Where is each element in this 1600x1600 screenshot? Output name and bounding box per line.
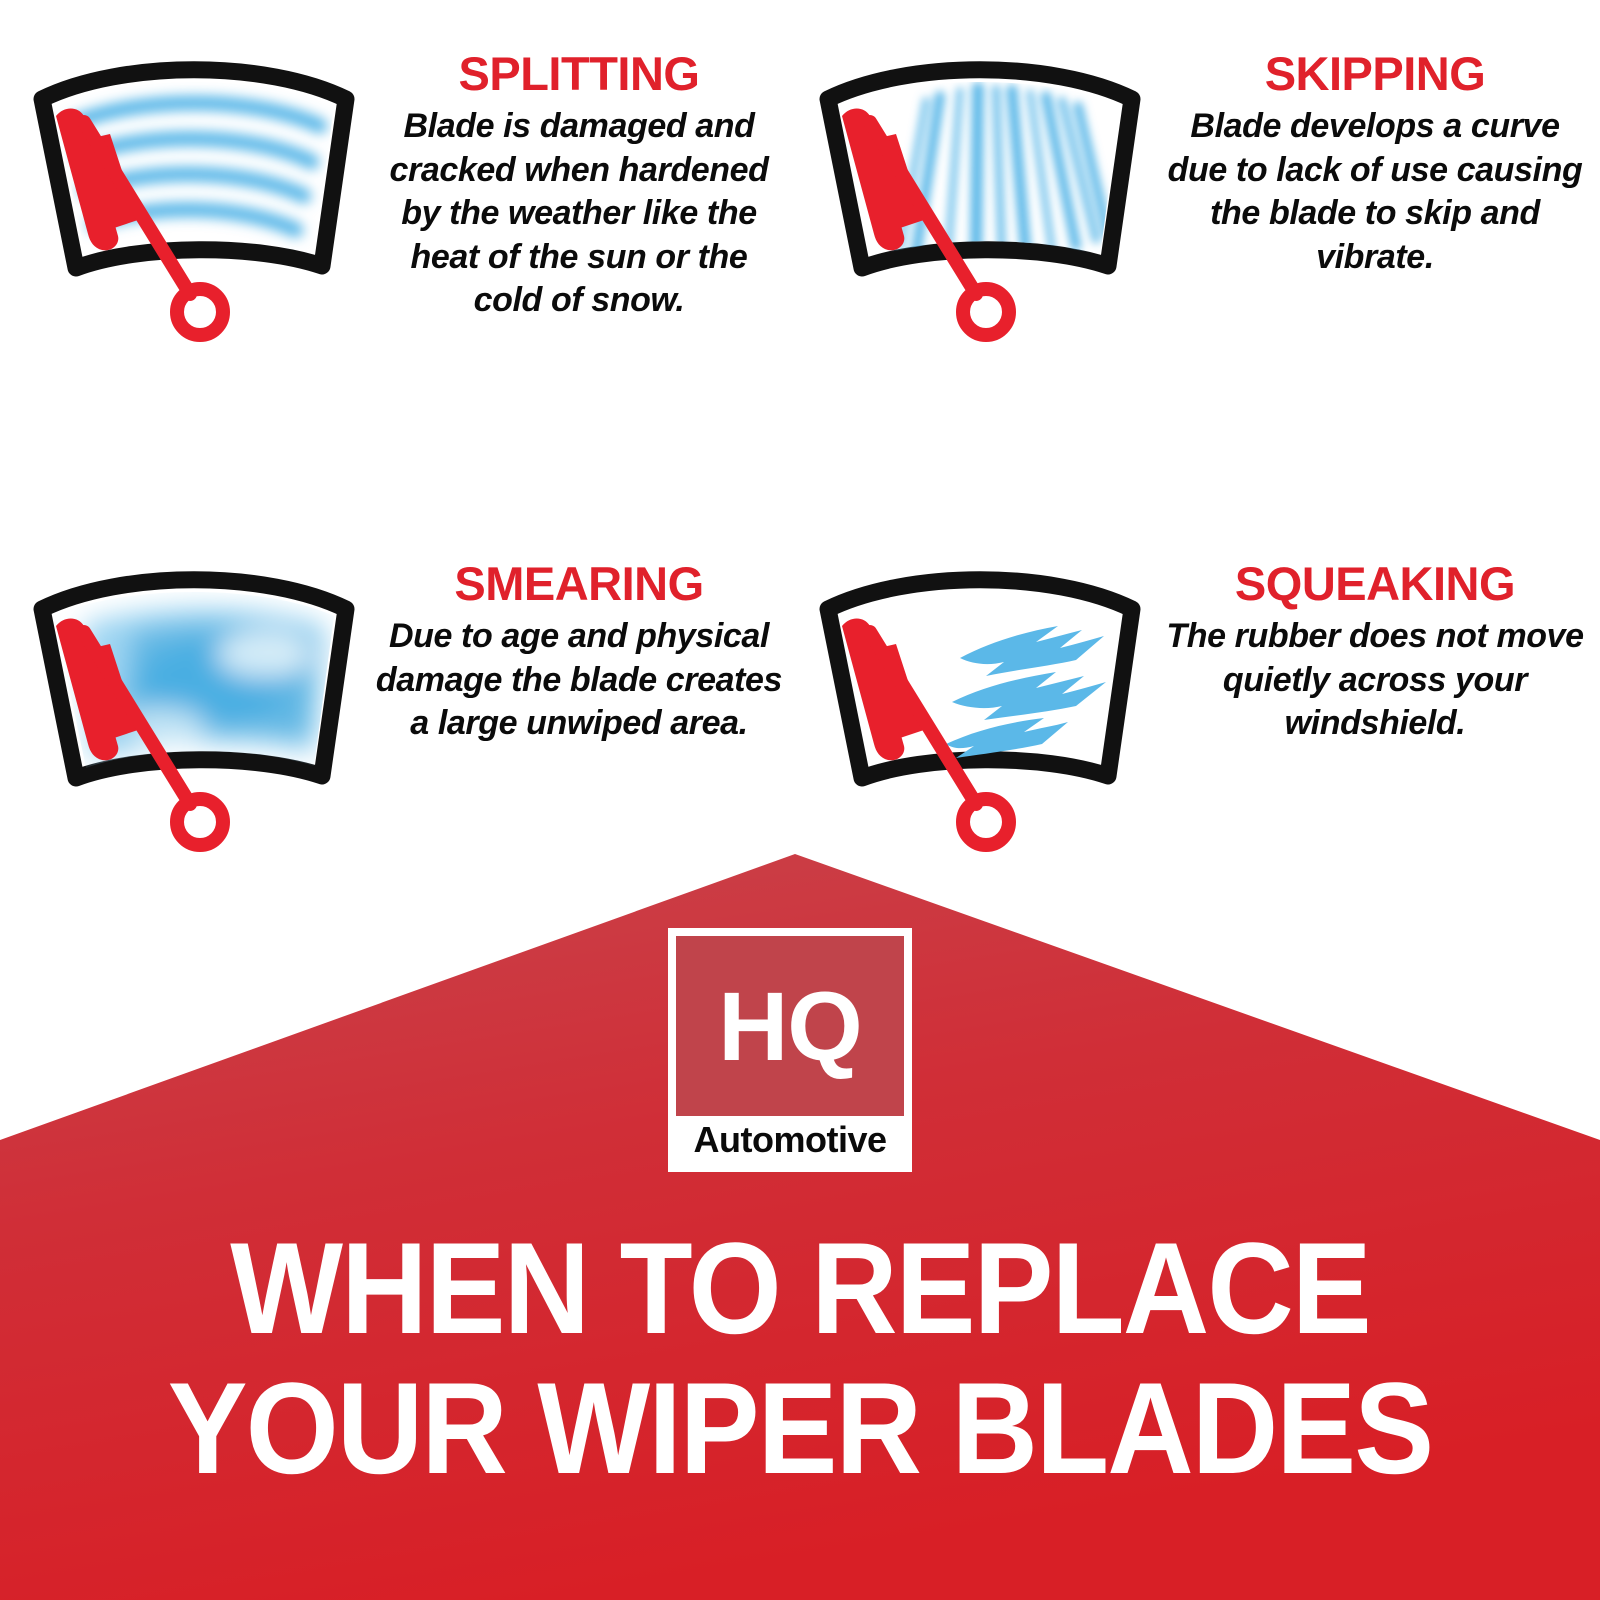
symptom-description: The rubber does not move quietly across … [1160,615,1590,746]
hq-automotive-logo: HQ Automotive [668,928,912,1172]
logo-wordmark: Automotive [676,1116,904,1160]
symptom-description: Blade develops a curve due to lack of us… [1160,105,1590,279]
page-title: WHEN TO REPLACE YOUR WIPER BLADES [64,1218,1536,1499]
infographic-poster: SPLITTING Blade is damaged and cracked w… [0,0,1600,1600]
symptom-title: SMEARING [374,560,784,607]
page-title-line-1: WHEN TO REPLACE [64,1218,1536,1358]
symptom-description: Blade is damaged and cracked when harden… [374,105,784,323]
symptom-text-smearing: SMEARING Due to age and physical damage … [374,554,784,746]
symptom-text-skipping: SKIPPING Blade develops a curve due to l… [1160,44,1590,279]
symptom-card-skipping: SKIPPING Blade develops a curve due to l… [800,44,1590,344]
logo-mark-text: HQ [718,978,862,1075]
symptom-title: SKIPPING [1160,50,1590,97]
symptom-text-splitting: SPLITTING Blade is damaged and cracked w… [374,44,784,323]
page-title-line-2: YOUR WIPER BLADES [64,1358,1536,1498]
symptom-text-squeaking: SQUEAKING The rubber does not move quiet… [1160,554,1590,746]
symptom-card-smearing: SMEARING Due to age and physical damage … [14,554,784,854]
wiper-skipping-icon [800,44,1160,344]
symptom-title: SPLITTING [374,50,784,97]
symptom-title: SQUEAKING [1160,560,1590,607]
logo-mark-square: HQ [676,936,904,1116]
symptom-card-splitting: SPLITTING Blade is damaged and cracked w… [14,44,784,344]
symptom-description: Due to age and physical damage the blade… [374,615,784,746]
wiper-smearing-icon [14,554,374,854]
wiper-squeaking-icon [800,554,1160,854]
wiper-splitting-icon [14,44,374,344]
symptom-card-squeaking: SQUEAKING The rubber does not move quiet… [800,554,1590,854]
